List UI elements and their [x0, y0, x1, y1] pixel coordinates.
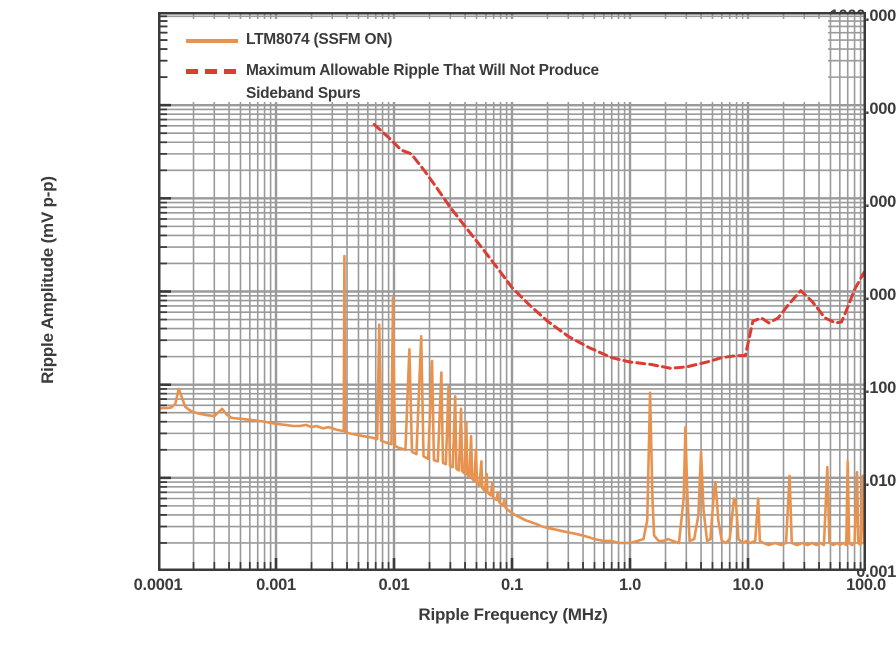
x-tick-label: 0.001 — [221, 576, 331, 595]
x-axis-title: Ripple Frequency (MHz) — [158, 605, 868, 625]
chart-figure: Ripple Amplitude (mV p-p) 1000.000 100.0… — [0, 0, 896, 647]
x-tick-label: 1.0 — [575, 576, 685, 595]
x-tick-label: 0.01 — [339, 576, 449, 595]
x-tick-label: 10.0 — [693, 576, 803, 595]
x-tick-label: 0.1 — [457, 576, 567, 595]
x-tick-label: 100.0 — [811, 576, 896, 595]
legend: LTM8074 (SSFM ON) Maximum Allowable Ripp… — [168, 19, 828, 102]
y-axis-title: Ripple Amplitude (mV p-p) — [38, 140, 58, 420]
legend-label-line1: Maximum Allowable Ripple That Will Not P… — [246, 62, 599, 80]
legend-label-line2: Sideband Spurs — [246, 85, 361, 103]
legend-label: LTM8074 (SSFM ON) — [246, 31, 392, 49]
legend-swatch-solid-icon — [186, 39, 238, 43]
x-tick-label: 0.0001 — [103, 576, 213, 595]
legend-swatch-dashed-icon — [186, 69, 238, 74]
